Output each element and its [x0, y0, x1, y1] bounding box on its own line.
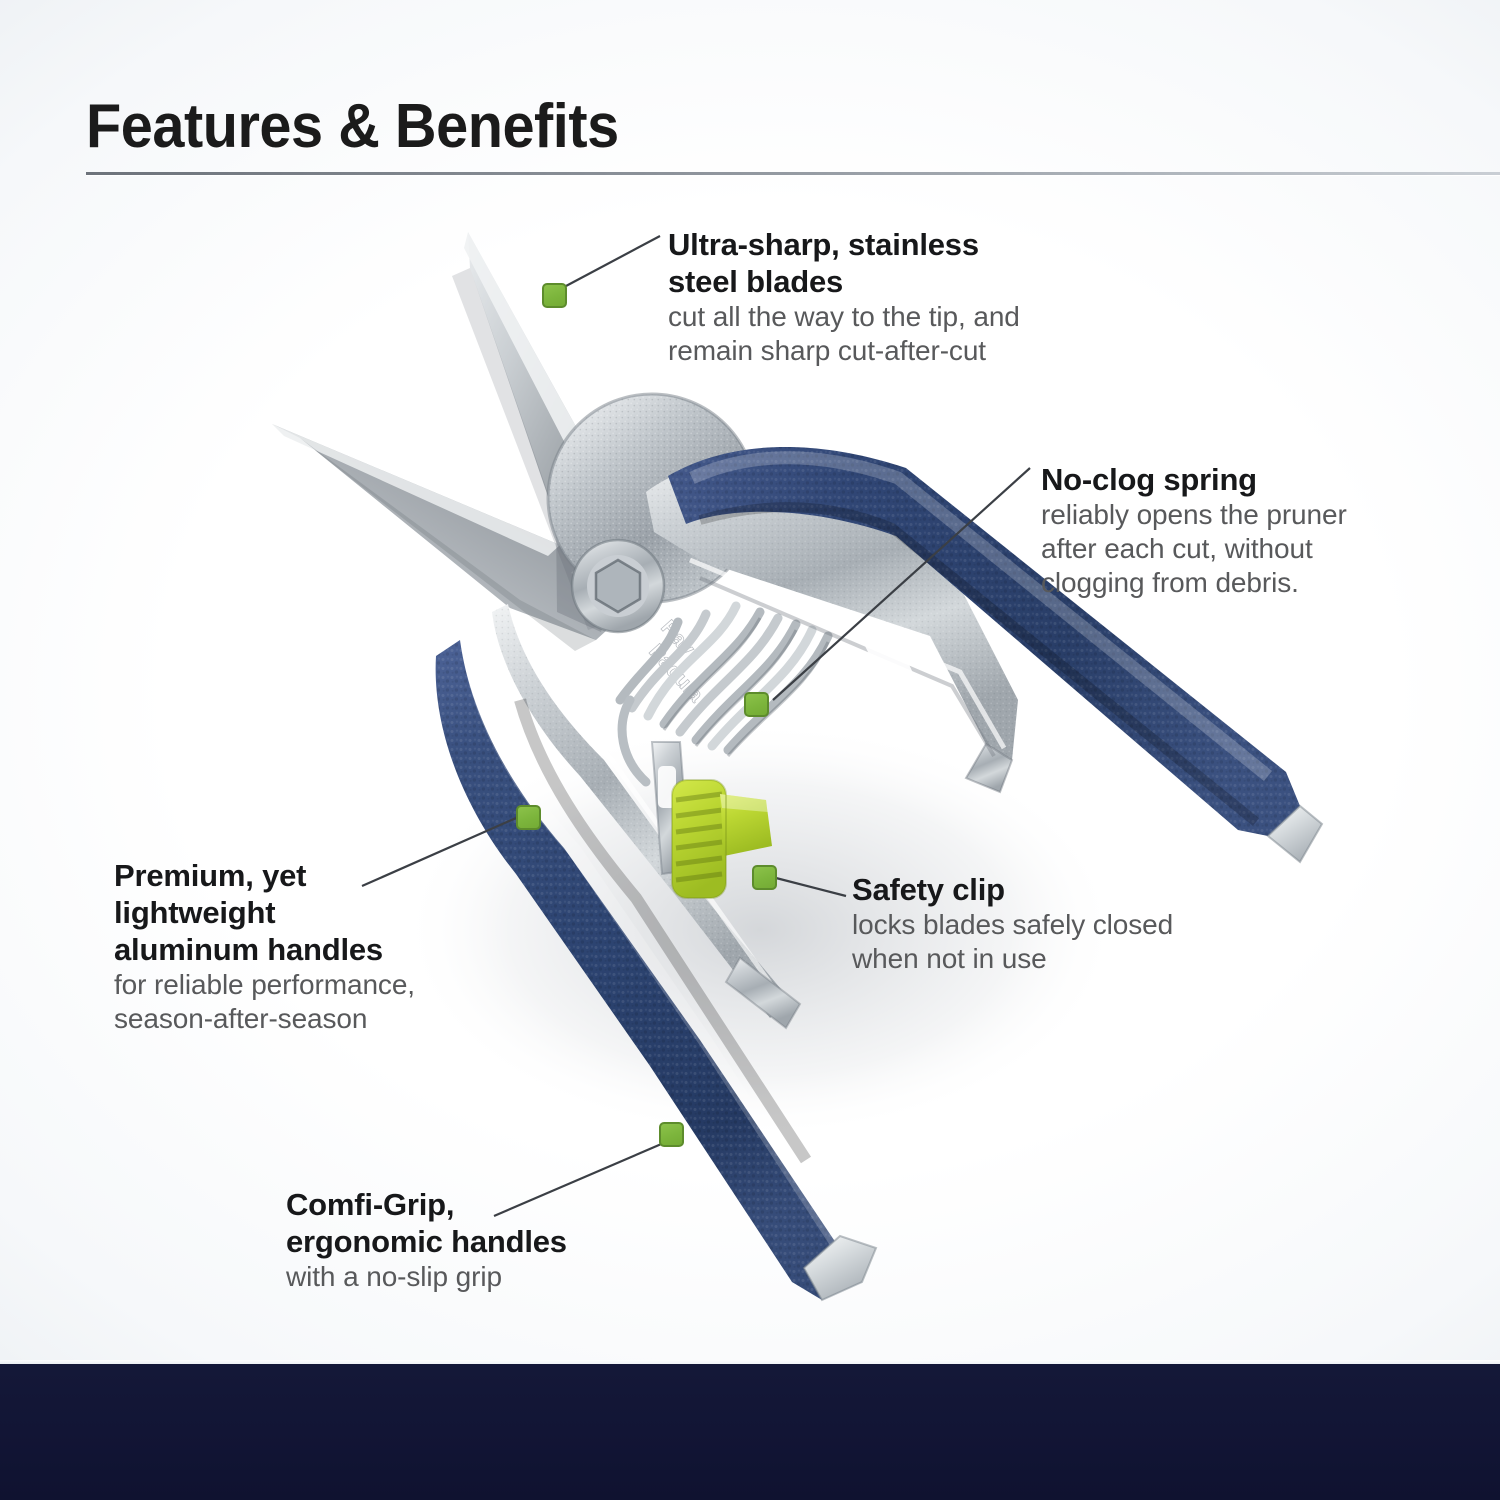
product-image-pruner: Ray Padula	[0, 0, 1500, 1500]
callout-ultra-sharp-blades: Ultra-sharp, stainless steel blades cut …	[668, 226, 1068, 368]
callout-body: for reliable performance, season-after-s…	[114, 968, 504, 1036]
callout-no-clog-spring: No-clog spring reliably opens the pruner…	[1041, 461, 1381, 600]
callout-heading: Ultra-sharp, stainless steel blades	[668, 226, 1068, 300]
callout-body: cut all the way to the tip, and remain s…	[668, 300, 1068, 368]
callout-aluminum-handles: Premium, yet lightweight aluminum handle…	[114, 857, 504, 1036]
marker-ultra-sharp-blades[interactable]	[542, 283, 567, 308]
callout-heading: No-clog spring	[1041, 461, 1381, 498]
callout-body: with a no-slip grip	[286, 1260, 666, 1294]
pivot-bolt	[572, 540, 664, 632]
callout-heading: Premium, yet lightweight aluminum handle…	[114, 857, 504, 968]
marker-no-clog-spring[interactable]	[744, 692, 769, 717]
callout-heading: Safety clip	[852, 871, 1182, 908]
marker-aluminum-handles[interactable]	[516, 805, 541, 830]
callout-body: reliably opens the pruner after each cut…	[1041, 498, 1381, 600]
infographic-canvas: Features & Benefits	[0, 0, 1500, 1500]
footer-bar	[0, 1364, 1500, 1500]
callout-heading: Comfi-Grip, ergonomic handles	[286, 1186, 666, 1260]
callout-body: locks blades safely closed when not in u…	[852, 908, 1182, 976]
marker-safety-clip[interactable]	[752, 865, 777, 890]
callout-comfi-grip-handles: Comfi-Grip, ergonomic handles with a no-…	[286, 1186, 666, 1294]
marker-comfi-grip-handles[interactable]	[659, 1122, 684, 1147]
callout-safety-clip: Safety clip locks blades safely closed w…	[852, 871, 1182, 976]
